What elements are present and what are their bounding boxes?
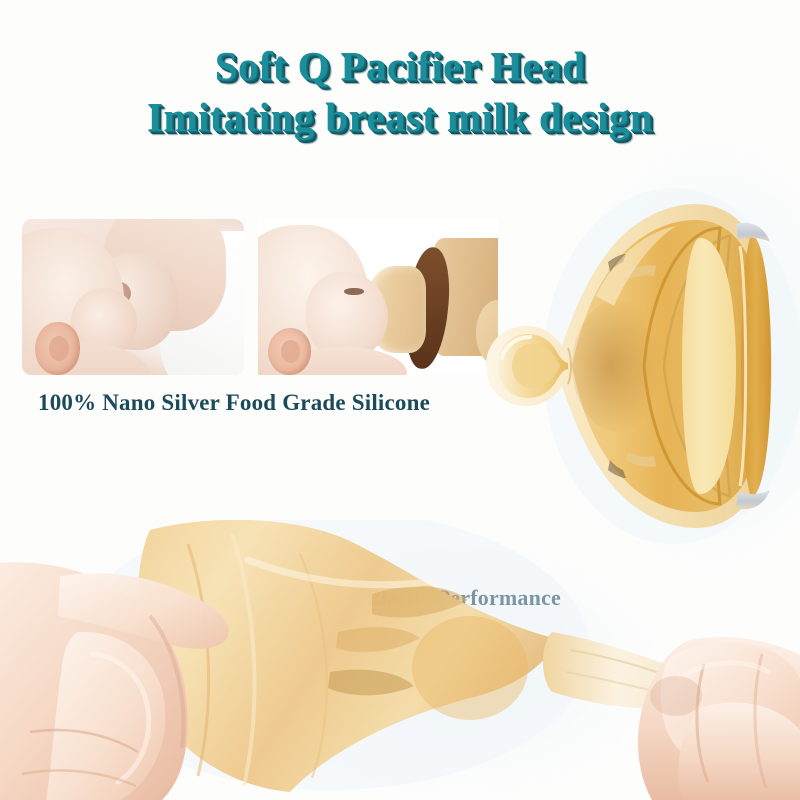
elastic-stretch-demo <box>0 520 800 800</box>
headline-line-2: Imitating breast milk design <box>0 95 800 139</box>
breastfeeding-photo <box>22 219 244 375</box>
baby-ear <box>268 328 311 375</box>
soft-q-pacifier-nipple <box>468 176 800 556</box>
headline-block: Soft Q Pacifier Head Imitating breast mi… <box>0 44 800 140</box>
baby-ear-inner <box>281 340 301 362</box>
bottle-feeding-photo <box>258 219 498 375</box>
baby-ear <box>35 322 79 375</box>
caption-silicone: 100% Nano Silver Food Grade Silicone <box>38 390 430 416</box>
headline-line-1: Soft Q Pacifier Head <box>0 44 800 88</box>
baby-ear-inner <box>49 336 69 361</box>
baby-eye <box>344 288 363 296</box>
product-poster: Soft Q Pacifier Head Imitating breast mi… <box>0 0 800 800</box>
